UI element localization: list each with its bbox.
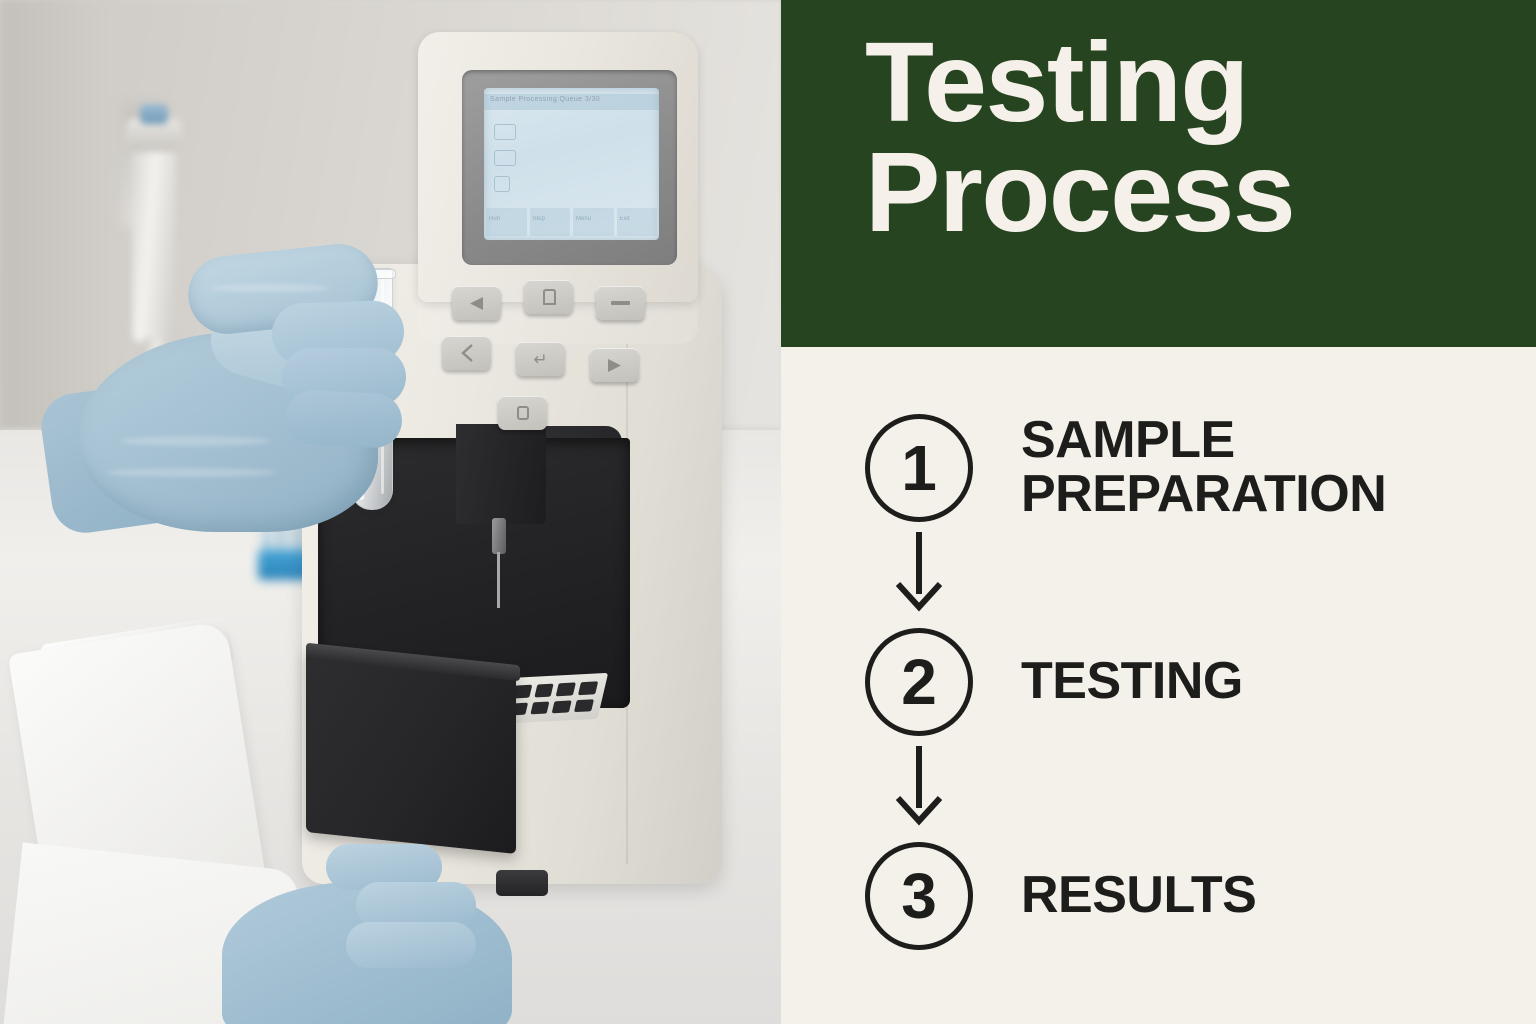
title-banner: Testing Process	[781, 0, 1536, 347]
arrow-down-icon-2	[865, 738, 973, 840]
triangle-right-key[interactable]	[590, 348, 639, 382]
page-title-line-2: Process	[865, 138, 1525, 248]
lcd-icon-1	[494, 124, 516, 140]
step-2-number-badge: 2	[865, 628, 973, 736]
glove-wrinkle-1	[120, 436, 270, 446]
step-1-label: SAMPLE PREPARATION	[1021, 414, 1386, 521]
info-panel: Testing Process 1 SAMPLE PREPARATION 2	[781, 0, 1536, 1024]
minus-key[interactable]	[596, 286, 645, 320]
arrow-head-1	[895, 580, 943, 614]
lcd-softkey-menu-label: Menu	[576, 216, 591, 222]
compartment-drawer[interactable]	[306, 647, 516, 854]
process-step-list: 1 SAMPLE PREPARATION 2 TESTING	[865, 412, 1525, 952]
lcd-softkey-menu[interactable]: Menu	[573, 208, 614, 236]
analyzer-lcd-screen[interactable]: Sample Processing Queue 3/30 Run Stop Me…	[484, 88, 659, 240]
page-title-line-1: Testing	[865, 28, 1525, 138]
screen-bezel: Sample Processing Queue 3/30 Run Stop Me…	[462, 70, 677, 265]
needle-probe-icon	[497, 552, 500, 608]
enter-key-glyph: ↵	[533, 351, 547, 368]
needle-arm	[456, 424, 546, 524]
glove-lower-finger-3	[346, 922, 476, 968]
page-title: Testing Process	[865, 28, 1525, 247]
lcd-icon-2	[494, 150, 516, 166]
pipette-plunger	[140, 104, 168, 124]
step-3-label-line-1: RESULTS	[1021, 869, 1256, 923]
step-1-label-line-1: SAMPLE	[1021, 414, 1386, 468]
arrow-head-2	[895, 794, 943, 828]
analyzer-keypad[interactable]: ↵	[436, 280, 686, 420]
lcd-status-text: Sample Processing Queue 3/30	[490, 96, 600, 103]
enter-key[interactable]: ↵	[516, 342, 565, 376]
poster-canvas: Sample Processing Queue 3/30 Run Stop Me…	[0, 0, 1536, 1024]
step-1-label-line-2: PREPARATION	[1021, 468, 1386, 522]
gloved-hand-upper	[60, 236, 450, 566]
lcd-icon-3	[494, 176, 510, 192]
square-key[interactable]	[498, 396, 547, 430]
step-1-number-badge: 1	[865, 414, 973, 522]
step-3-label: RESULTS	[1021, 869, 1256, 923]
step-2-label: TESTING	[1021, 655, 1243, 709]
lcd-softkey-stop[interactable]: Stop	[530, 208, 571, 236]
process-step-2[interactable]: 2 TESTING	[865, 626, 1525, 738]
stop-key[interactable]	[524, 280, 573, 314]
glove-finger-little	[285, 389, 404, 449]
lcd-softkey-stop-label: Stop	[533, 216, 545, 222]
step-2-label-line-1: TESTING	[1021, 655, 1243, 709]
lcd-softkey-exit-label: Exit	[620, 216, 630, 222]
needle-holder	[492, 518, 506, 554]
lcd-softkey-run[interactable]: Run	[486, 208, 527, 236]
gloved-hand-lower	[196, 838, 536, 1024]
lcd-softkey-row[interactable]: Run Stop Menu Exit	[486, 208, 657, 236]
arrow-down-icon-1	[865, 524, 973, 626]
glove-wrinkle-2	[106, 468, 276, 477]
lcd-softkey-run-label: Run	[489, 216, 500, 222]
process-step-3[interactable]: 3 RESULTS	[865, 840, 1525, 952]
process-step-1[interactable]: 1 SAMPLE PREPARATION	[865, 412, 1525, 524]
step-3-number-badge: 3	[865, 842, 973, 950]
triangle-left-key[interactable]	[452, 286, 501, 320]
glove-wrinkle-3	[210, 284, 330, 292]
laboratory-photo: Sample Processing Queue 3/30 Run Stop Me…	[0, 0, 781, 1024]
lcd-softkey-exit[interactable]: Exit	[617, 208, 658, 236]
